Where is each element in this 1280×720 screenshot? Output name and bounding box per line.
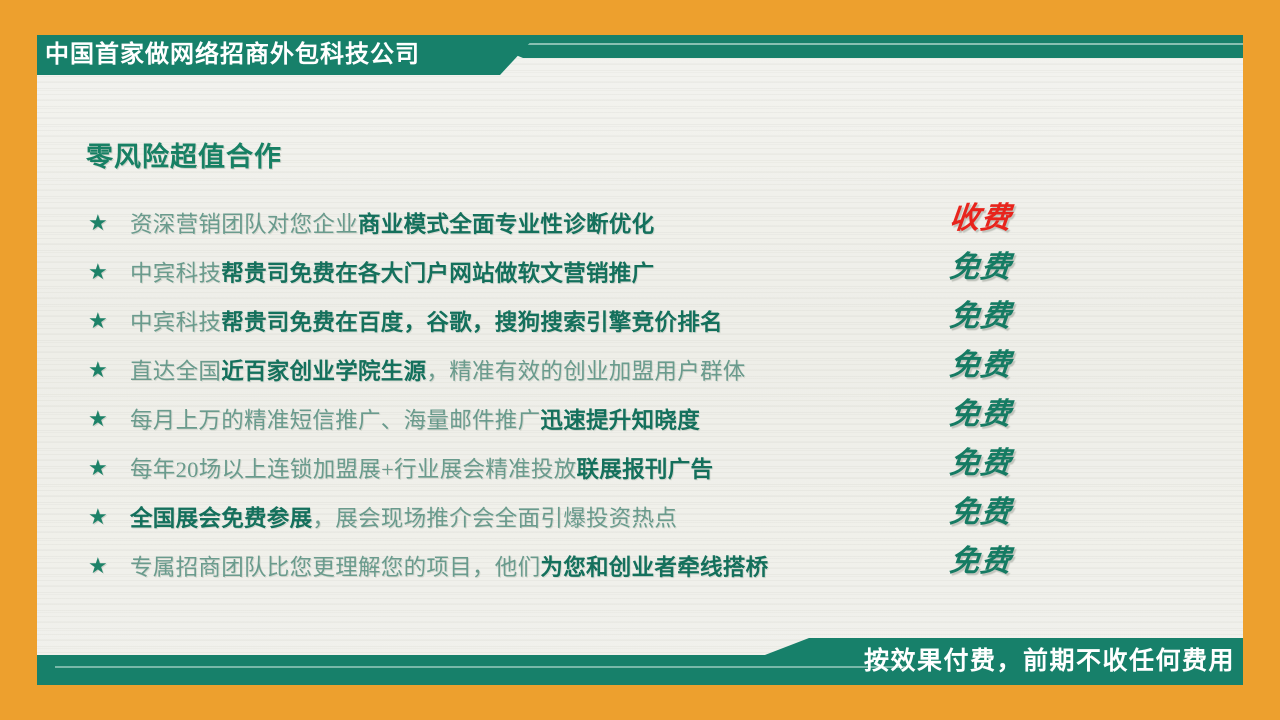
list-item-emphasis: 帮贵司免费在百度，谷歌，搜狗搜索引擎竞价排名: [221, 310, 723, 335]
list-item-tail: ，展会现场推介会全面引爆投资热点: [312, 506, 677, 531]
fee-badge: 免费: [947, 288, 1072, 337]
list-item: ★ 中宾科技帮贵司免费在各大门户网站做软文营销推广: [88, 247, 1048, 296]
list-item-emphasis: 全国展会免费参展: [130, 506, 312, 531]
fee-badge: 免费: [947, 435, 1072, 484]
page-title: 零风险超值合作: [86, 135, 282, 174]
list-item-lead: 中宾科技: [130, 310, 221, 335]
star-icon: ★: [88, 212, 130, 234]
star-icon: ★: [88, 457, 130, 479]
list-item-tail: ，精准有效的创业加盟用户群体: [426, 359, 745, 384]
list-item: ★ 全国展会免费参展，展会现场推介会全面引爆投资热点: [88, 492, 1048, 541]
star-icon: ★: [88, 261, 130, 283]
fee-badge: 免费: [947, 337, 1072, 386]
list-item-lead: 资深营销团队对您企业: [130, 212, 358, 237]
list-item-text: 每月上万的精准短信推广、海量邮件推广迅速提升知晓度: [130, 403, 700, 435]
list-item-lead: 中宾科技: [130, 261, 221, 286]
fee-badge: 免费: [947, 239, 1072, 288]
list-item-lead: 每月上万的精准短信推广、海量邮件推广: [130, 408, 540, 433]
fee-badge: 免费: [947, 533, 1072, 582]
fee-badge: 收费: [947, 190, 1072, 239]
slide: 中国首家做网络招商外包科技公司 零风险超值合作 ★ 资深营销团队对您企业商业模式…: [0, 0, 1280, 720]
list-item: ★ 中宾科技帮贵司免费在百度，谷歌，搜狗搜索引擎竞价排名: [88, 296, 1048, 345]
list-item: ★ 直达全国近百家创业学院生源，精准有效的创业加盟用户群体: [88, 345, 1048, 394]
list-item-text: 每年20场以上连锁加盟展+行业展会精准投放联展报刊广告: [130, 452, 713, 484]
fee-badge: 免费: [947, 386, 1072, 435]
list-item-emphasis: 迅速提升知晓度: [540, 408, 700, 433]
list-item-emphasis: 近百家创业学院生源: [221, 359, 426, 384]
list-item-lead: 直达全国: [130, 359, 221, 384]
star-icon: ★: [88, 359, 130, 381]
benefit-list: ★ 资深营销团队对您企业商业模式全面专业性诊断优化 ★ 中宾科技帮贵司免费在各大…: [88, 198, 1048, 590]
star-icon: ★: [88, 506, 130, 528]
list-item: ★ 专属招商团队比您更理解您的项目，他们为您和创业者牵线搭桥: [88, 541, 1048, 590]
list-item: ★ 资深营销团队对您企业商业模式全面专业性诊断优化: [88, 198, 1048, 247]
fee-badge: 免费: [947, 484, 1072, 533]
fee-badge-column: 收费 免费 免费 免费 免费 免费 免费 免费: [950, 190, 1070, 582]
star-icon: ★: [88, 408, 130, 430]
list-item: ★ 每月上万的精准短信推广、海量邮件推广迅速提升知晓度: [88, 394, 1048, 443]
star-icon: ★: [88, 310, 130, 332]
list-item-text: 全国展会免费参展，展会现场推介会全面引爆投资热点: [130, 501, 677, 533]
list-item-text: 中宾科技帮贵司免费在各大门户网站做软文营销推广: [130, 256, 654, 288]
list-item-lead: 专属招商团队比您更理解您的项目，他们: [130, 555, 540, 580]
star-icon: ★: [88, 555, 130, 577]
list-item-text: 直达全国近百家创业学院生源，精准有效的创业加盟用户群体: [130, 354, 746, 386]
list-item-lead: 每年20场以上连锁加盟展+行业展会精准投放: [130, 457, 577, 482]
list-item-emphasis: 为您和创业者牵线搭桥: [540, 555, 768, 580]
list-item-text: 专属招商团队比您更理解您的项目，他们为您和创业者牵线搭桥: [130, 550, 768, 582]
list-item-emphasis: 商业模式全面专业性诊断优化: [358, 212, 654, 237]
list-item-emphasis: 联展报刊广告: [577, 457, 714, 482]
list-item-text: 资深营销团队对您企业商业模式全面专业性诊断优化: [130, 207, 654, 239]
list-item-emphasis: 帮贵司免费在各大门户网站做软文营销推广: [221, 261, 654, 286]
list-item: ★ 每年20场以上连锁加盟展+行业展会精准投放联展报刊广告: [88, 443, 1048, 492]
list-item-text: 中宾科技帮贵司免费在百度，谷歌，搜狗搜索引擎竞价排名: [130, 305, 723, 337]
